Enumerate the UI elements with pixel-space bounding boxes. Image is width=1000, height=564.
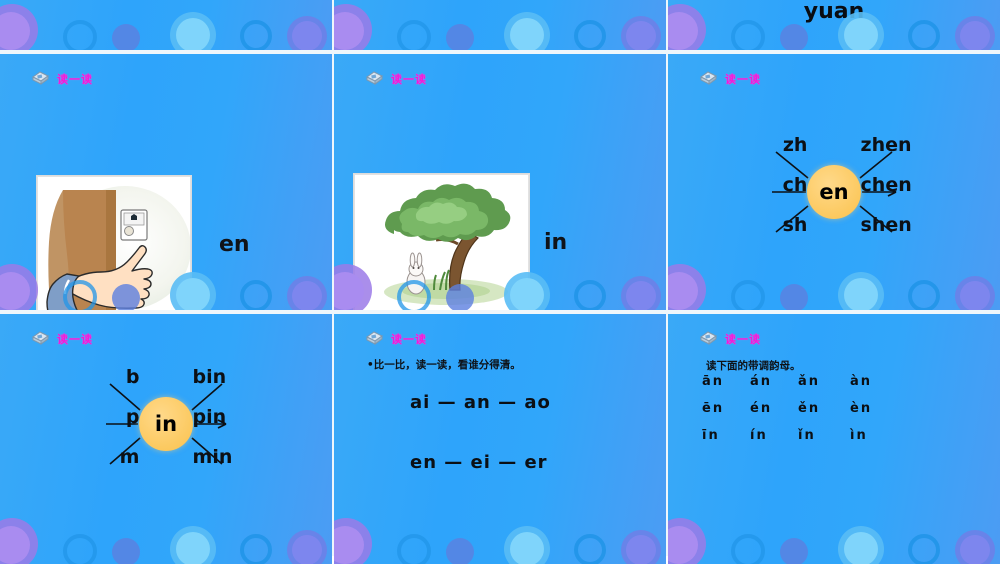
read-aloud-label: 读一读 — [391, 331, 427, 347]
spoke-hub-in: in — [139, 397, 193, 451]
read-aloud-tag: 读一读 — [364, 70, 427, 87]
spoke-left-2: ch — [783, 174, 808, 196]
slide-top-left[interactable] — [0, 0, 332, 50]
book-icon — [30, 330, 50, 347]
read-aloud-tag: 读一读 — [30, 330, 93, 347]
tones-instruction: 读下面的带调韵母。 — [706, 358, 801, 373]
decorative-circle-band — [0, 518, 332, 564]
spoke-left-3: m — [120, 446, 140, 468]
doorbell-picture — [37, 176, 191, 310]
vowel-label-in: in — [544, 230, 567, 255]
spoke-left-2: p — [126, 406, 140, 428]
compare-row-2: en — ei — er — [410, 452, 548, 473]
tone-cell: ān — [702, 374, 750, 389]
spoke-right-3: shen — [861, 214, 912, 236]
tone-cell: īn — [702, 428, 750, 443]
spoke-left-1: b — [126, 366, 140, 388]
book-icon — [698, 70, 718, 87]
tone-table: ān án ǎn àn ēn én ěn èn īn ín ǐn ìn — [702, 374, 900, 443]
slide-in-spokes[interactable]: 读一读 in b p m bin pin min — [0, 314, 332, 564]
compare-instruction: •比一比，读一读，看谁分得清。 — [367, 357, 521, 372]
read-aloud-label: 读一读 — [57, 331, 93, 347]
tone-cell: ǐn — [798, 428, 850, 443]
book-icon — [364, 70, 384, 87]
tone-cell: ēn — [702, 401, 750, 416]
vowel-label-en: en — [219, 232, 250, 257]
tone-cell: ín — [750, 428, 798, 443]
tone-cell: èn — [850, 401, 900, 416]
slide-top-right[interactable]: yuan — [668, 0, 1000, 50]
read-aloud-label: 读一读 — [391, 71, 427, 87]
tone-cell: án — [750, 374, 798, 389]
spoke-right-3: min — [193, 446, 233, 468]
book-icon — [364, 330, 384, 347]
spoke-left-3: sh — [783, 214, 808, 236]
read-aloud-label: 读一读 — [725, 71, 761, 87]
read-aloud-tag: 读一读 — [30, 70, 93, 87]
read-aloud-tag: 读一读 — [698, 330, 761, 347]
slide-tree[interactable]: 读一读 — [334, 54, 666, 310]
slide-tones[interactable]: 读一读 读下面的带调韵母。 ān án ǎn àn ēn én ěn èn īn… — [668, 314, 1000, 564]
compare-row-1: ai — an — ao — [410, 392, 551, 413]
slide-top-middle[interactable] — [334, 0, 666, 50]
page-title: yuan — [668, 0, 1000, 24]
read-aloud-label: 读一读 — [57, 71, 93, 87]
tone-cell: àn — [850, 374, 900, 389]
spoke-right-2: chen — [861, 174, 912, 196]
read-aloud-tag: 读一读 — [698, 70, 761, 87]
book-icon — [698, 330, 718, 347]
spoke-right-1: zhen — [861, 134, 912, 156]
spoke-diagram-in: in b p m bin pin min — [0, 364, 332, 484]
tone-cell: ǎn — [798, 374, 850, 389]
slide-compare[interactable]: 读一读 •比一比，读一读，看谁分得清。 ai — an — ao en — ei… — [334, 314, 666, 564]
spoke-right-2: pin — [193, 406, 227, 428]
tone-cell: én — [750, 401, 798, 416]
book-icon — [30, 70, 50, 87]
slide-deck: yuan 读一读 — [0, 0, 1000, 556]
spoke-left-1: zh — [783, 134, 808, 156]
decorative-circle-band — [334, 518, 666, 564]
tree-picture — [354, 174, 529, 310]
spoke-diagram-en: en zh ch sh zhen chen shen — [668, 132, 1000, 252]
decorative-circle-band — [0, 4, 332, 50]
decorative-circle-band — [668, 264, 1000, 310]
slide-en-spokes[interactable]: 读一读 en zh ch sh zhen chen shen — [668, 54, 1000, 310]
read-aloud-label: 读一读 — [725, 331, 761, 347]
spoke-hub-en: en — [807, 165, 861, 219]
slide-doorbell[interactable]: 读一读 — [0, 54, 332, 310]
spoke-right-1: bin — [193, 366, 227, 388]
tone-cell: ìn — [850, 428, 900, 443]
decorative-circle-band — [334, 4, 666, 50]
read-aloud-tag: 读一读 — [364, 330, 427, 347]
tone-cell: ěn — [798, 401, 850, 416]
decorative-circle-band — [668, 518, 1000, 564]
